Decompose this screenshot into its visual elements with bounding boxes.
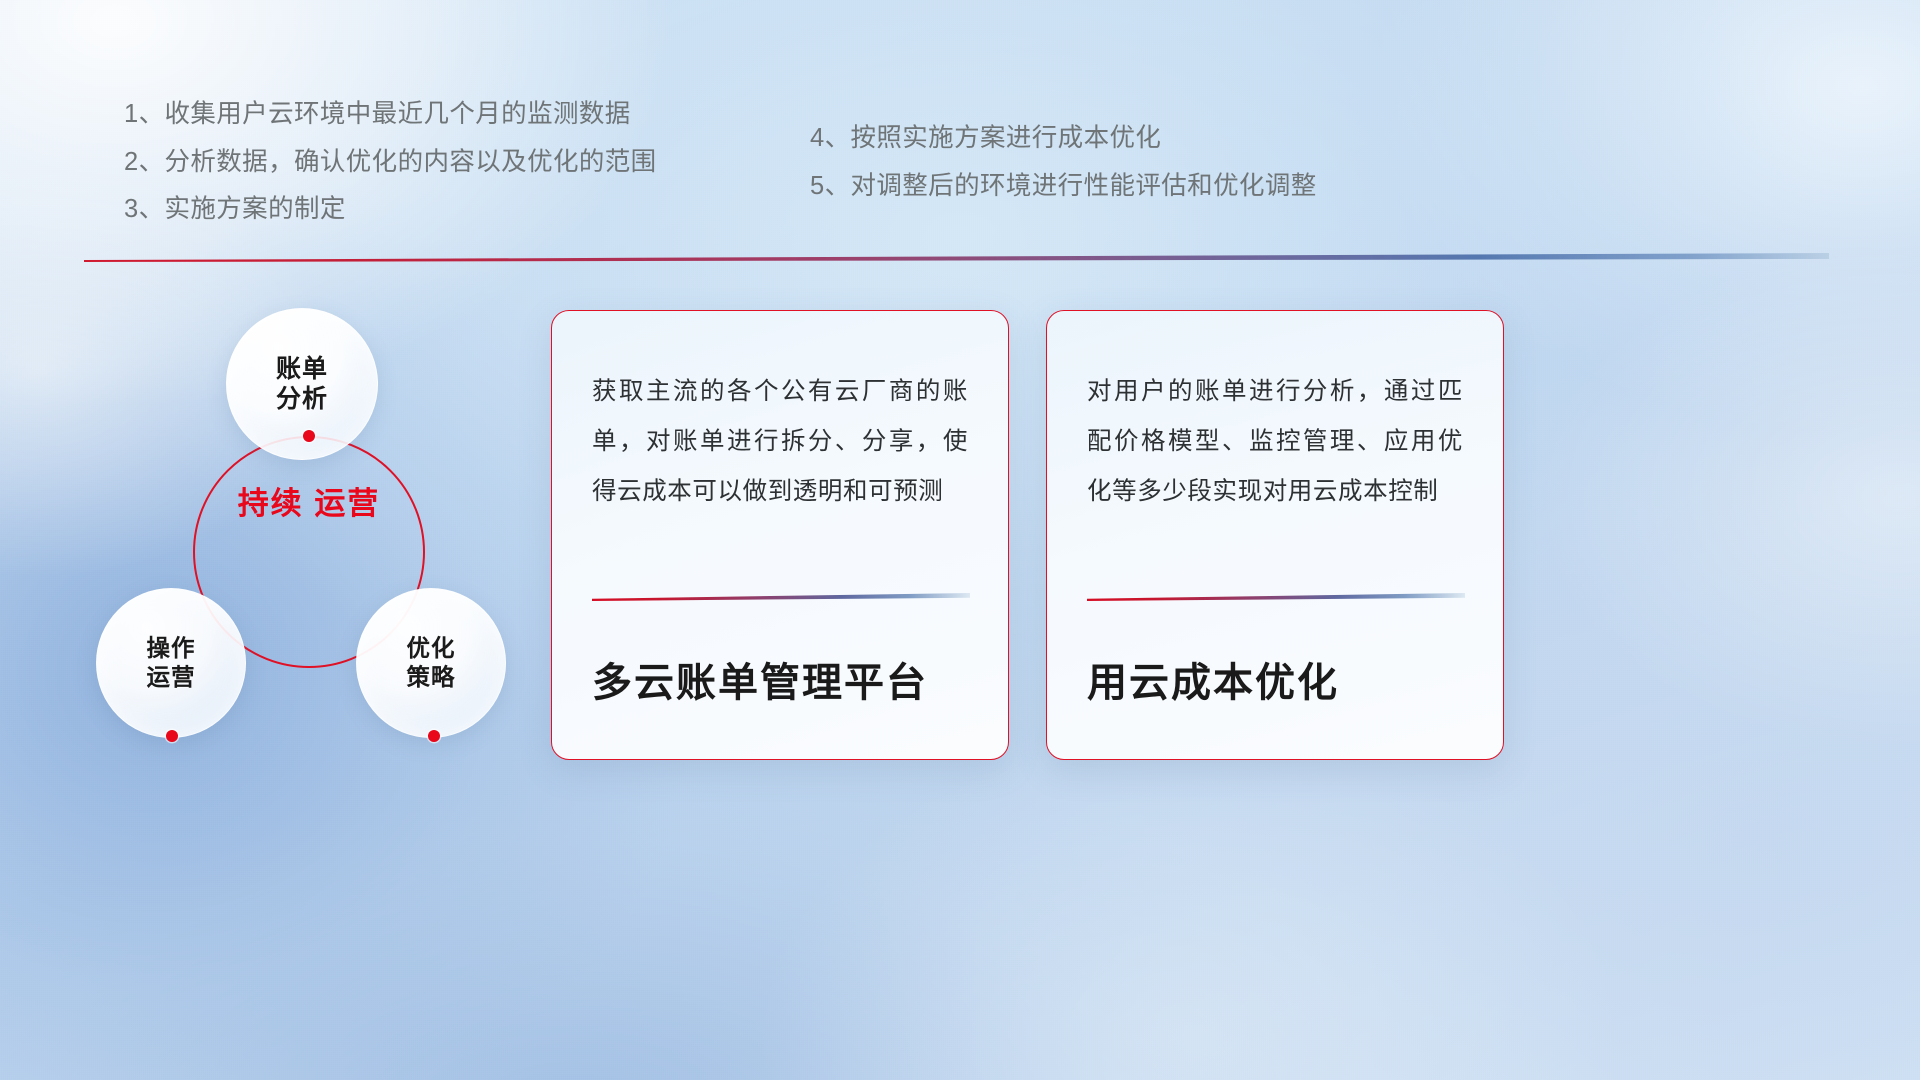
card-1-divider — [592, 593, 970, 601]
card-2-body: 对用户的账单进行分析，通过匹配价格模型、监控管理、应用优化等多少段实现对用云成本… — [1087, 367, 1463, 517]
diagram-center-label: 持续 运营 — [193, 484, 425, 524]
bubble-optimization-strategy[interactable]: 优化 策略 — [356, 588, 506, 738]
connector-dot-right — [428, 730, 440, 742]
bubble-bill-analysis-line-2: 分析 — [276, 384, 328, 415]
bubble-optimization-strategy-line-2: 策略 — [407, 663, 456, 692]
step-item-5: 5、对调整后的环境进行性能评估和优化调整 — [810, 174, 1317, 200]
bubble-bill-analysis[interactable]: 账单 分析 — [226, 308, 378, 460]
continuous-operations-diagram: 持续 运营 账单 分析 操作 运营 优化 策略 — [88, 288, 558, 768]
card-cloud-cost-optimization[interactable]: 对用户的账单进行分析，通过匹配价格模型、监控管理、应用优化等多少段实现对用云成本… — [1046, 310, 1504, 760]
section-divider-rule — [84, 253, 1829, 262]
bubble-operations-line-1: 操作 — [147, 634, 196, 663]
step-item-4: 4、按照实施方案进行成本优化 — [810, 126, 1317, 152]
connector-dot-top — [303, 430, 315, 442]
center-label-line-2: 运营 — [314, 486, 380, 521]
bubble-optimization-strategy-line-1: 优化 — [407, 634, 456, 663]
step-item-3: 3、实施方案的制定 — [124, 197, 657, 223]
bubble-operations-line-2: 运营 — [147, 663, 196, 692]
step-item-2: 2、分析数据，确认优化的内容以及优化的范围 — [124, 150, 657, 176]
steps-list-left: 1、收集用户云环境中最近几个月的监测数据 2、分析数据，确认优化的内容以及优化的… — [124, 102, 657, 245]
steps-list-right: 4、按照实施方案进行成本优化 5、对调整后的环境进行性能评估和优化调整 — [810, 126, 1317, 221]
card-2-title: 用云成本优化 — [1087, 659, 1465, 707]
bubble-bill-analysis-line-1: 账单 — [276, 354, 328, 385]
center-label-line-1: 持续 — [238, 486, 304, 521]
connector-dot-left — [166, 730, 178, 742]
card-multicloud-billing[interactable]: 获取主流的各个公有云厂商的账单，对账单进行拆分、分享，使得云成本可以做到透明和可… — [551, 310, 1009, 760]
card-1-body: 获取主流的各个公有云厂商的账单，对账单进行拆分、分享，使得云成本可以做到透明和可… — [592, 367, 968, 517]
step-item-1: 1、收集用户云环境中最近几个月的监测数据 — [124, 102, 657, 128]
card-1-title: 多云账单管理平台 — [592, 659, 970, 707]
bubble-operations[interactable]: 操作 运营 — [96, 588, 246, 738]
slide-content: 1、收集用户云环境中最近几个月的监测数据 2、分析数据，确认优化的内容以及优化的… — [0, 0, 1920, 1080]
card-2-divider — [1087, 593, 1465, 601]
